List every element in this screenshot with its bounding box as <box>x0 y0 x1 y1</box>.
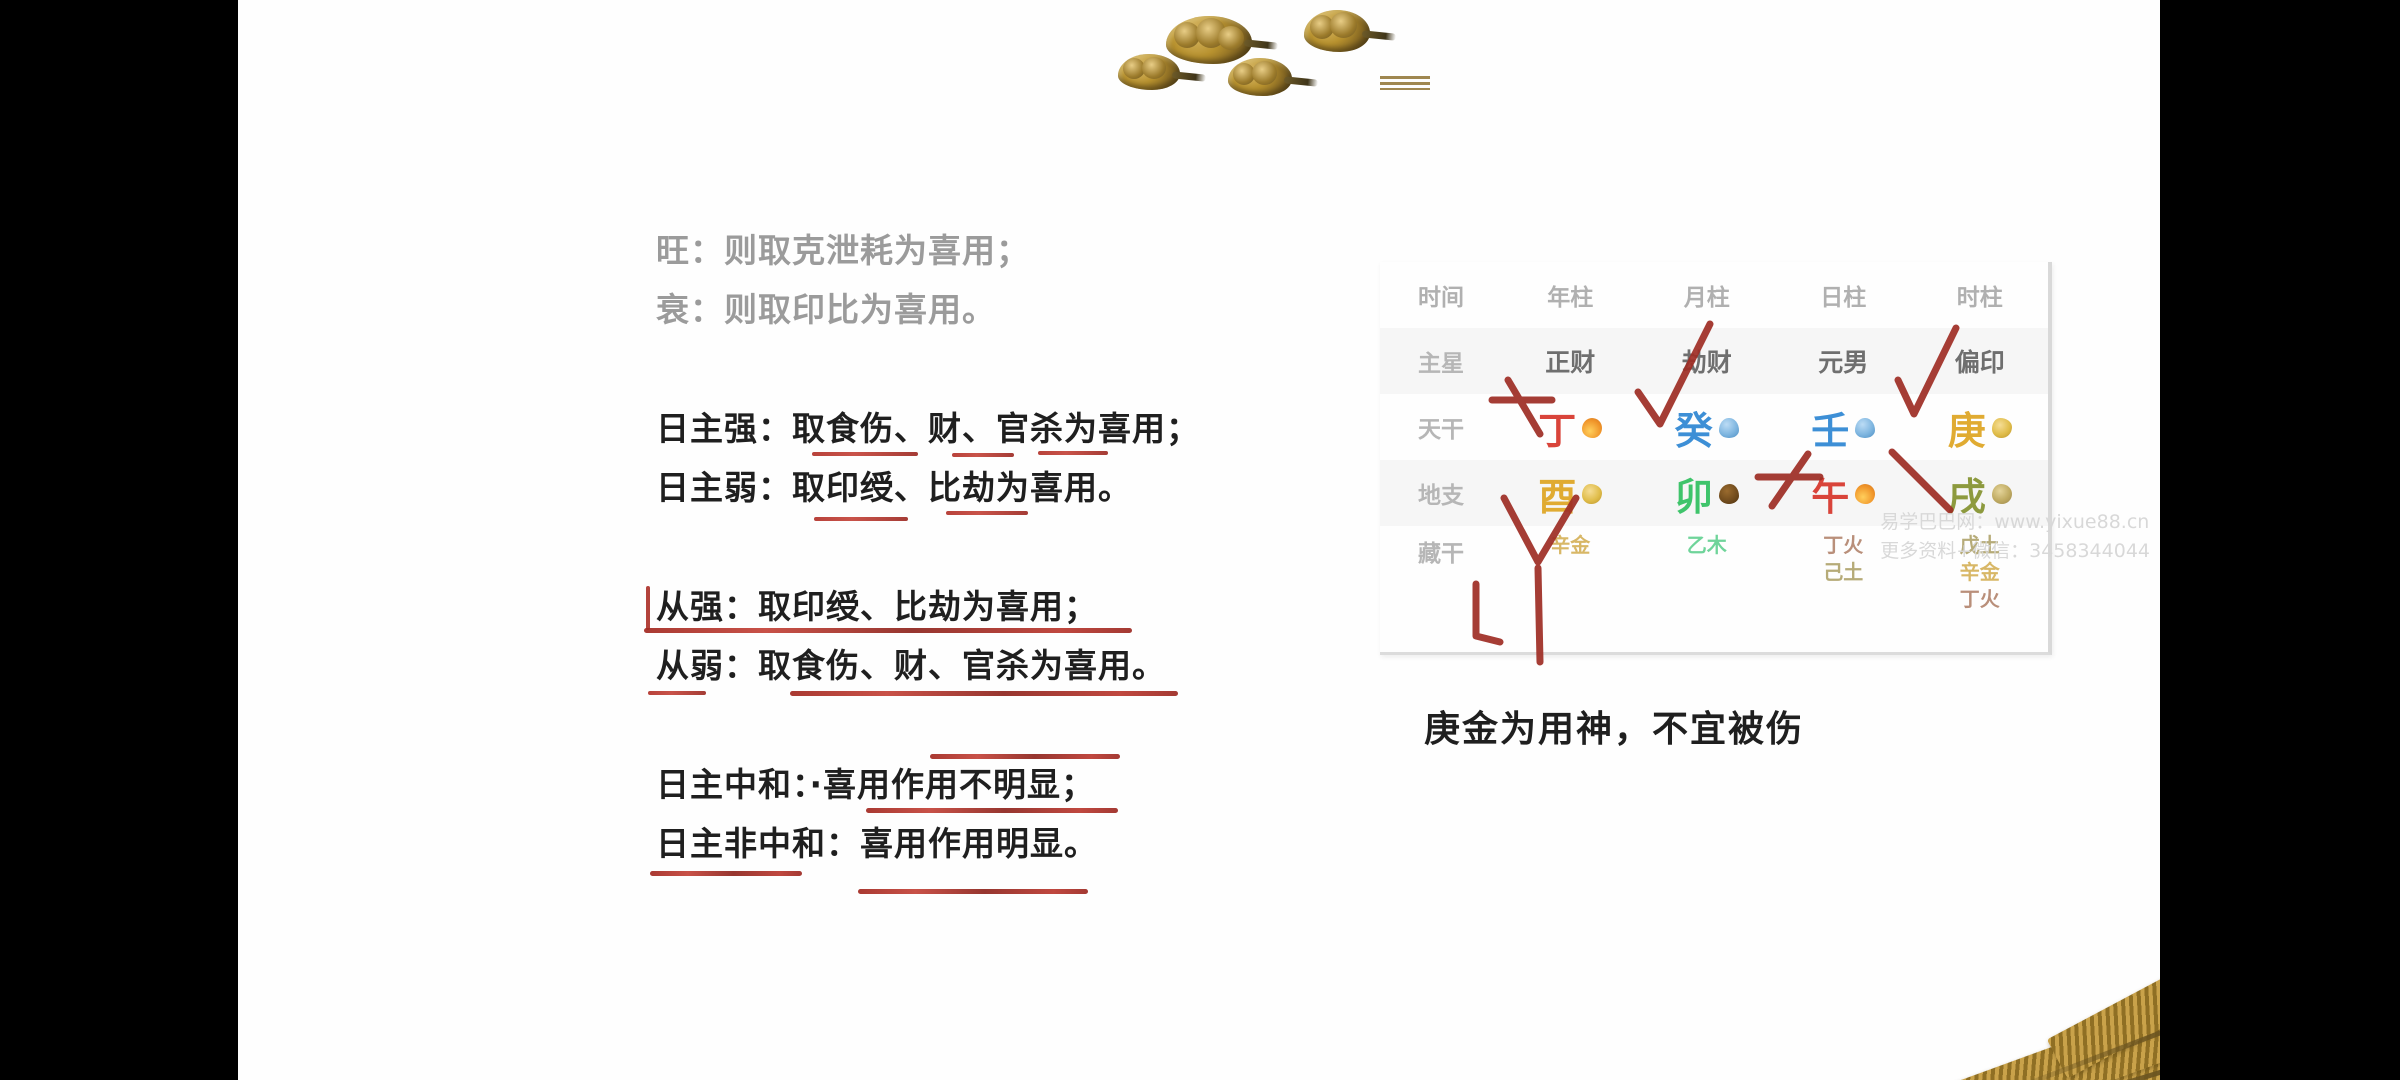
line-shuai: 衰：则取印比为喜用。 <box>656 293 1316 352</box>
row-main-star: 主星 正财 劫财 元男 偏印 <box>1380 328 2048 394</box>
rowlabel-heavenly-stems: 天干 <box>1380 394 1502 460</box>
line-rizhu-weak-body: 取印绶、比劫为喜用。 <box>792 468 1132 507</box>
wood-element-icon <box>1719 484 1739 504</box>
lesson-text-column: 旺：则取克泄耗为喜用； 衰：则取印比为喜用。 日主强：取食伤、财、官杀为喜用； … <box>656 234 1316 886</box>
row-heavenly-stems: 天干 丁 癸 壬 庚 <box>1380 394 2048 460</box>
rowlabel-main-star: 主星 <box>1380 328 1502 394</box>
golden-pagoda-roof-ornament <box>1880 930 2160 1080</box>
annotation-underline <box>952 453 1014 457</box>
line-rizhu-weak-label: 日主弱： <box>656 468 792 507</box>
metal-element-icon <box>1992 418 2012 438</box>
line-rizhu-strong: 日主强：取食伤、财、官杀为喜用； <box>656 412 1316 471</box>
line-congqiang-body: 取印绶、比劫为喜用； <box>758 587 1098 626</box>
line-wang: 旺：则取克泄耗为喜用； <box>656 234 1316 293</box>
text-block-congqiang-congruo: 从强：取印绶、比劫为喜用； 从弱：取食伤、财、官杀为喜用。 <box>656 590 1316 708</box>
text-block-zhonghe: 日主中和：·喜用作用不明显； 日主非中和：喜用作用明显。 <box>656 768 1316 886</box>
stem-year: 丁 <box>1502 394 1639 460</box>
line-congruo-body: 取食伤、财、官杀为喜用。 <box>758 646 1166 685</box>
cloud-shape-2 <box>1304 10 1370 52</box>
main-star-year: 正财 <box>1502 328 1639 394</box>
metal-element-icon <box>1582 484 1602 504</box>
line-fei-zhonghe-label: 日主非中和： <box>656 824 860 863</box>
header-month-pillar: 月柱 <box>1639 262 1776 328</box>
annotation-wavy-underline <box>644 628 1132 633</box>
main-star-month: 劫财 <box>1639 328 1776 394</box>
header-hour-pillar: 时柱 <box>1912 262 2049 328</box>
annotation-wavy-underline <box>790 691 1178 696</box>
stem-month: 癸 <box>1639 394 1776 460</box>
annotation-underline <box>814 517 908 521</box>
stem-year-char: 丁 <box>1538 400 1576 455</box>
annotation-underline <box>1038 451 1108 455</box>
fire-element-icon <box>1855 484 1875 504</box>
branch-month-char: 卯 <box>1675 466 1713 521</box>
branch-year-char: 酉 <box>1538 466 1576 521</box>
screenshot-stage: 旺：则取克泄耗为喜用； 衰：则取印比为喜用。 日主强：取食伤、财、官杀为喜用； … <box>0 0 2400 1080</box>
line-fei-zhonghe-body: 喜用作用明显。 <box>860 824 1098 863</box>
watermark-line-1: 易学巴巴网：www.yixue88.cn <box>1880 508 2150 537</box>
line-shuai-label: 衰： <box>656 290 724 329</box>
main-star-hour: 偏印 <box>1912 328 2049 394</box>
hidden-stem-item: 丁火 <box>1913 586 2048 613</box>
line-fei-zhonghe: 日主非中和：喜用作用明显。 <box>656 827 1316 886</box>
line-congruo: 从弱：取食伤、财、官杀为喜用。 <box>656 649 1316 708</box>
line-wang-label: 旺： <box>656 231 724 270</box>
text-block-wang-shuai: 旺：则取克泄耗为喜用； 衰：则取印比为喜用。 <box>656 234 1316 352</box>
line-congqiang-label: 从强： <box>656 587 758 626</box>
stem-hour-char: 庚 <box>1948 400 1986 455</box>
line-zhonghe-body: ·喜用作用不明显； <box>810 765 1096 804</box>
text-block-rizhu-strength: 日主强：取食伤、财、官杀为喜用； 日主弱：取印绶、比劫为喜用。 <box>656 412 1316 530</box>
stem-month-char: 癸 <box>1675 400 1713 455</box>
line-zhonghe-label: 日主中和： <box>656 765 810 804</box>
rowlabel-hidden-stems: 藏干 <box>1380 526 1502 614</box>
cloud-tail-stripes <box>1380 76 1430 90</box>
annotation-wavy-underline <box>866 808 1118 813</box>
line-rizhu-strong-body: 取食伤、财、官杀为喜用； <box>792 409 1200 448</box>
cloud-shape-1 <box>1166 16 1252 64</box>
cloud-shape-3 <box>1118 54 1180 90</box>
line-rizhu-weak: 日主弱：取印绶、比劫为喜用。 <box>656 471 1316 530</box>
annotation-wavy-underline <box>858 889 1088 894</box>
site-watermark: 易学巴巴网：www.yixue88.cn 更多资料+微信：3458344044 <box>1880 508 2150 567</box>
branch-year: 酉 <box>1502 460 1639 526</box>
faint-corner-watermark <box>578 55 798 125</box>
earth-element-icon <box>1992 484 2012 504</box>
slide-canvas: 旺：则取克泄耗为喜用； 衰：则取印比为喜用。 日主强：取食伤、财、官杀为喜用； … <box>238 0 2160 1080</box>
cloud-shape-4 <box>1228 58 1292 96</box>
annotation-underline <box>812 452 918 456</box>
table-header-row: 时间 年柱 月柱 日柱 时柱 <box>1380 262 2048 328</box>
hidden-stem-item: 辛金 <box>1503 532 1638 559</box>
hidden-stems-year: 辛金 <box>1502 526 1639 614</box>
branch-month: 卯 <box>1639 460 1776 526</box>
main-star-day: 元男 <box>1775 328 1912 394</box>
line-zhonghe: 日主中和：·喜用作用不明显； <box>656 768 1316 827</box>
slide-caption: 庚金为用神，不宜被伤 <box>1424 700 1804 752</box>
line-wang-body: 则取克泄耗为喜用； <box>724 231 1030 270</box>
water-element-icon <box>1855 418 1875 438</box>
bazi-chart-table: 时间 年柱 月柱 日柱 时柱 主星 正财 劫财 元男 偏印 天干 丁 <box>1380 262 2052 655</box>
stem-day: 壬 <box>1775 394 1912 460</box>
annotation-wavy-underline <box>650 871 802 876</box>
auspicious-cloud-ornament <box>1118 2 1448 112</box>
stem-day-char: 壬 <box>1811 400 1849 455</box>
water-element-icon <box>1719 418 1739 438</box>
hidden-stem-item: 乙木 <box>1640 532 1775 559</box>
line-rizhu-strong-label: 日主强： <box>656 409 792 448</box>
line-shuai-body: 则取印比为喜用。 <box>724 290 996 329</box>
watermark-line-2: 更多资料+微信：3458344044 <box>1880 537 2150 566</box>
hidden-stems-month: 乙木 <box>1639 526 1776 614</box>
annotation-bracket <box>646 586 650 630</box>
header-day-pillar: 日柱 <box>1775 262 1912 328</box>
header-time: 时间 <box>1380 262 1502 328</box>
line-congqiang: 从强：取印绶、比劫为喜用； <box>656 590 1316 649</box>
annotation-underline <box>946 511 1028 515</box>
rowlabel-earthly-branches: 地支 <box>1380 460 1502 526</box>
annotation-overline <box>930 754 1120 759</box>
line-congruo-label: 从弱： <box>656 646 758 685</box>
header-year-pillar: 年柱 <box>1502 262 1639 328</box>
branch-day-char: 午 <box>1811 466 1849 521</box>
stem-hour: 庚 <box>1912 394 2049 460</box>
annotation-underline <box>648 691 706 695</box>
fire-element-icon <box>1582 418 1602 438</box>
